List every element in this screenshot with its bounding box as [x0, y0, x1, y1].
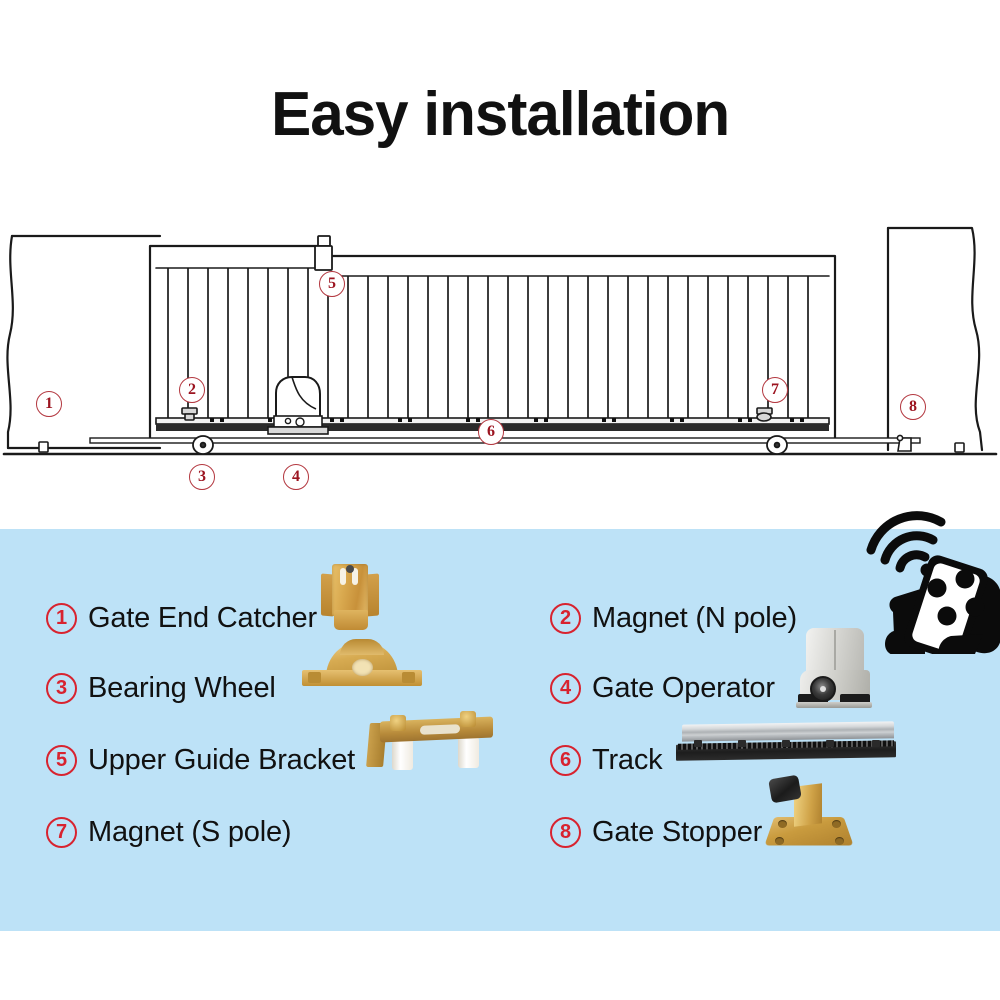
- legend-item-track[interactable]: 6 Track: [550, 745, 662, 776]
- marker-track: 6: [478, 419, 504, 445]
- track-photo: [676, 721, 896, 763]
- legend-item-bearing-wheel[interactable]: 3 Bearing Wheel: [46, 673, 276, 704]
- legend-number-4: 4: [550, 673, 581, 704]
- remote-button-1: [928, 579, 947, 598]
- legend-item-magnet-s-pole[interactable]: 7 Magnet (S pole): [46, 817, 291, 848]
- remote-control-svg: [855, 504, 1000, 654]
- legend-item-gate-stopper[interactable]: 8 Gate Stopper: [550, 817, 762, 848]
- legend-number-6: 6: [550, 745, 581, 776]
- diagram-track: [90, 418, 920, 443]
- page-title-wrap: Easy installation: [0, 84, 1000, 146]
- legend-label-magnet-s-pole: Magnet (S pole): [88, 818, 291, 847]
- legend-number-2: 2: [550, 603, 581, 634]
- legend-label-magnet-n-pole: Magnet (N pole): [592, 604, 797, 633]
- legend-label-track: Track: [592, 746, 662, 775]
- signal-arc-outer: [871, 516, 941, 550]
- legend-number-8: 8: [550, 817, 581, 848]
- remote-button-4: [966, 598, 985, 617]
- marker-magnet-n-pole: 2: [179, 377, 205, 403]
- legend-label-upper-guide-bracket: Upper Guide Bracket: [88, 746, 355, 775]
- diagram-gate-operator: [268, 377, 328, 434]
- legend-label-bearing-wheel: Bearing Wheel: [88, 674, 276, 703]
- legend-grid: 1 Gate End Catcher 2 Magnet (N pole) 3 B…: [0, 529, 1000, 931]
- bearing-wheel-photo: [302, 639, 422, 691]
- legend-item-gate-end-catcher[interactable]: 1 Gate End Catcher: [46, 603, 317, 634]
- legend-label-gate-end-catcher: Gate End Catcher: [88, 604, 317, 633]
- gate-end-catcher-photo: [318, 558, 388, 636]
- gate-diagram-svg: [0, 210, 1000, 510]
- legend-label-gate-stopper: Gate Stopper: [592, 818, 762, 847]
- legend-panel: 1 Gate End Catcher 2 Magnet (N pole) 3 B…: [0, 529, 1000, 931]
- diagram-magnet-n: [182, 408, 197, 420]
- marker-bearing-wheel: 3: [189, 464, 215, 490]
- legend-number-5: 5: [46, 745, 77, 776]
- marker-gate-operator: 4: [283, 464, 309, 490]
- legend-item-upper-guide-bracket[interactable]: 5 Upper Guide Bracket: [46, 745, 355, 776]
- marker-magnet-s-pole: 7: [762, 377, 788, 403]
- legend-label-gate-operator: Gate Operator: [592, 674, 775, 703]
- page-root: Easy installation: [0, 0, 1000, 1000]
- legend-item-magnet-n-pole[interactable]: 2 Magnet (N pole): [550, 603, 797, 634]
- remote-button-3: [938, 607, 957, 626]
- marker-upper-guide-bracket: 5: [319, 271, 345, 297]
- page-title: Easy installation: [271, 84, 729, 146]
- gate-stopper-photo: [762, 777, 858, 849]
- signal-arc-inner: [900, 555, 925, 568]
- legend-item-gate-operator[interactable]: 4 Gate Operator: [550, 673, 775, 704]
- marker-gate-stopper: 8: [900, 394, 926, 420]
- diagram-upper-guide-bracket: [315, 236, 332, 270]
- upper-guide-bracket-photo: [368, 709, 493, 777]
- remote-button-2: [956, 570, 975, 589]
- diagram-gate-end-catcher: [39, 442, 48, 452]
- sliding-gate-installation-diagram: 1 2 5 7 8 3 4 6: [0, 210, 1000, 510]
- legend-number-3: 3: [46, 673, 77, 704]
- diagram-magnet-s: [757, 408, 772, 421]
- remote-control-signal-icon: [855, 504, 1000, 654]
- legend-number-1: 1: [46, 603, 77, 634]
- diagram-gate-stopper: [897, 435, 964, 452]
- marker-gate-end-catcher: 1: [36, 391, 62, 417]
- legend-number-7: 7: [46, 817, 77, 848]
